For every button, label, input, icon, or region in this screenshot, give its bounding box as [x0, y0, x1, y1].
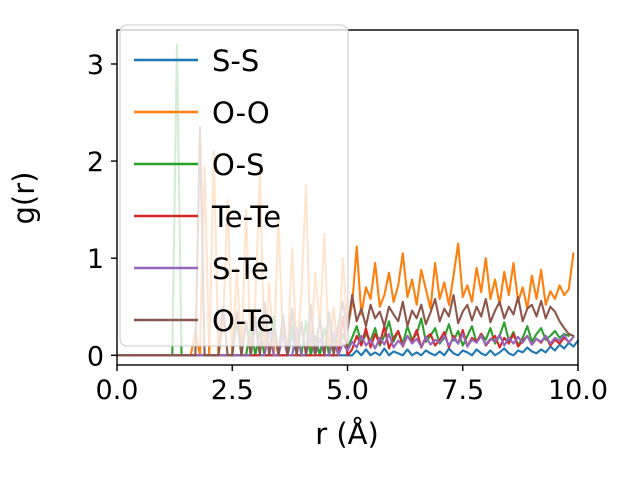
pair-distribution-chart: 0.02.55.07.510.0 0123 r (Å) g(r) S-SO-OO… — [0, 0, 640, 480]
x-tick-label: 5.0 — [326, 375, 369, 406]
x-tick-label: 2.5 — [211, 375, 254, 406]
y-tick-label: 2 — [87, 147, 104, 178]
x-tick-label: 10.0 — [548, 375, 608, 406]
x-axis-label: r (Å) — [315, 417, 379, 451]
legend-label-o-s: O-S — [212, 148, 265, 182]
y-axis-label: g(r) — [7, 172, 41, 225]
legend-label-s-te: S-Te — [212, 252, 269, 286]
x-axis-ticks: 0.02.55.07.510.0 — [96, 365, 609, 406]
y-tick-label: 1 — [87, 244, 104, 275]
x-tick-label: 7.5 — [441, 375, 484, 406]
figure-canvas: 0.02.55.07.510.0 0123 r (Å) g(r) S-SO-OO… — [0, 0, 640, 480]
legend-label-o-o: O-O — [212, 96, 270, 130]
y-axis-ticks: 0123 — [87, 50, 117, 372]
chart-legend[interactable]: S-SO-OO-STe-TeS-TeO-Te — [120, 25, 348, 346]
legend-label-te-te: Te-Te — [211, 200, 281, 234]
y-tick-label: 0 — [87, 341, 104, 372]
x-tick-label: 0.0 — [96, 375, 139, 406]
legend-label-s-s: S-S — [212, 44, 259, 78]
legend-label-o-te: O-Te — [212, 304, 274, 338]
y-tick-label: 3 — [87, 50, 104, 81]
